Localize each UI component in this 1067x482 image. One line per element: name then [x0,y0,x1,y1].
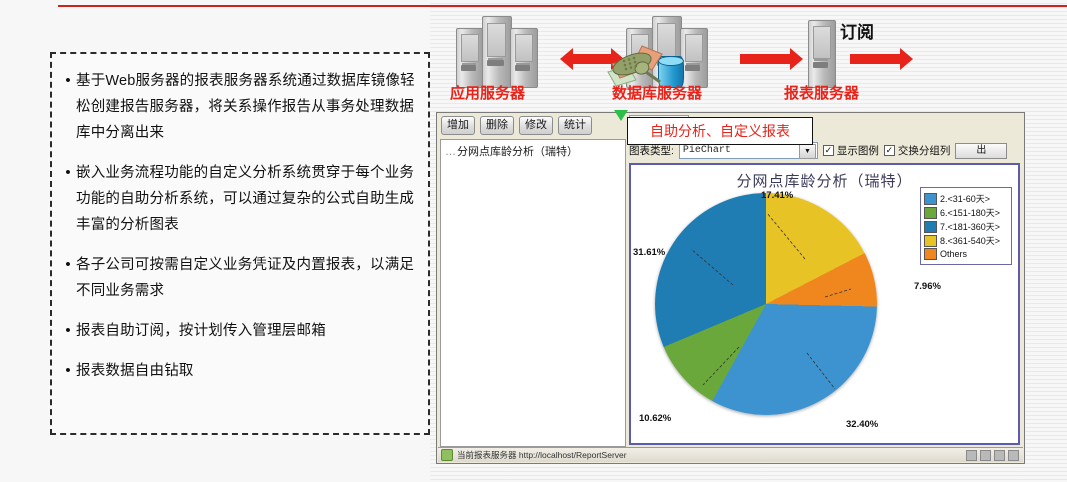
tree-dash-icon: … [445,146,456,158]
server-rack-icon [482,16,512,88]
bullet-marker: • [60,68,76,94]
statistics-button[interactable]: 统计 [558,116,592,135]
legend-label: 6.<151-180天> [940,206,1000,219]
window-toolbar: 增加 删除 修改 统计 [441,116,592,135]
bullet-text: 报表自助订阅，按计划传入管理层邮箱 [76,318,326,344]
show-legend-checkbox[interactable]: ✓ 显示图例 [823,143,879,158]
pie-chart-panel: 分网点库龄分析（瑞特） 17.41% 7.96% 32.40% 10.62% 3… [629,163,1020,445]
chart-config-pane: 图表类型: PieChart ▼ ✓ 显示图例 ✓ 交换分组列 出 分网点库龄分… [629,115,1023,447]
bullet-text: 嵌入业务流程功能的自定义分析系统贯穿于每个业务功能的自助分析系统，可以通过复杂的… [76,160,418,238]
pie-label-10: 10.62% [639,413,671,424]
legend-item: 7.<181-360天> [924,220,1008,233]
pie-label-32: 32.40% [846,419,878,430]
legend-item: Others [924,248,1008,260]
pie-label-7: 7.96% [914,281,941,292]
status-bar: 当前报表服务器 http://localhost/ReportServer [438,447,1023,462]
checkbox-mark[interactable]: ✓ [823,145,834,156]
tray-icon[interactable] [1008,450,1019,461]
bullet-text: 各子公司可按需自定义业务凭证及内置报表，以满足不同业务需求 [76,252,418,304]
report-server-icon [441,449,453,461]
server-rack-icon [456,28,484,88]
tree-item-label: 分网点库龄分析（瑞特） [457,146,578,158]
legend-swatch [924,221,937,233]
pda-mail-icon [602,40,674,92]
report-server-label: 报表服务器 [784,82,859,103]
bullet-marker: • [60,318,76,344]
bullet-item: • 报表数据自由钻取 [60,358,418,384]
legend-swatch [924,235,937,247]
swap-group-label: 交换分组列 [898,143,951,158]
report-server-icon-group [808,20,842,86]
status-text: 当前报表服务器 http://localhost/ReportServer [457,449,627,461]
legend-swatch [924,248,937,260]
tray-icon[interactable] [994,450,1005,461]
bullet-marker: • [60,160,76,186]
delete-button[interactable]: 删除 [480,116,514,135]
checkbox-mark[interactable]: ✓ [884,145,895,156]
legend-swatch [924,193,937,205]
tree-item-report[interactable]: …分网点库龄分析（瑞特） [445,143,621,159]
legend-label: 7.<181-360天> [940,220,1000,233]
tray-icon[interactable] [966,450,977,461]
top-divider-rule [58,5,1067,7]
arrow-db-to-report [740,54,792,64]
chevron-down-icon[interactable]: ▼ [799,144,816,159]
app-server-icon-group [454,16,550,86]
bullet-item: • 各子公司可按需自定义业务凭证及内置报表，以满足不同业务需求 [60,252,418,304]
tray-icon[interactable] [980,450,991,461]
report-tree-panel[interactable]: …分网点库龄分析（瑞特） [440,139,626,447]
report-designer-window: 增加 删除 修改 统计 …分网点库龄分析（瑞特） 图表类型: PieChart … [436,112,1025,464]
pie-label-31: 31.61% [633,247,665,258]
show-legend-label: 显示图例 [837,143,879,158]
bullet-item: • 基于Web服务器的报表服务器系统通过数据库镜像轻松创建报告服务器，将关系操作… [60,68,418,146]
legend-item: 2.<31-60天> [924,192,1008,205]
bullet-text: 报表数据自由钻取 [76,358,194,384]
legend-item: 8.<361-540天> [924,234,1008,247]
chart-type-value: PieChart [680,145,731,156]
legend-swatch [924,207,937,219]
legend-label: 8.<361-540天> [940,234,1000,247]
swap-group-checkbox[interactable]: ✓ 交换分组列 [884,143,951,158]
subscribe-label: 订阅 [840,18,874,43]
server-rack-icon [808,20,836,88]
legend-label: 2.<31-60天> [940,192,990,205]
bullet-marker: • [60,252,76,278]
callout-box: 自助分析、自定义报表 [627,117,813,145]
pie-label-17: 17.41% [761,190,793,201]
arrow-report-to-subscriber [850,54,902,64]
green-pointer-icon [614,110,628,121]
chart-legend: 2.<31-60天> 6.<151-180天> 7.<181-360天> 8.<… [920,187,1012,265]
pie-leader-lines [655,193,877,415]
server-rack-icon [510,28,538,88]
legend-item: 6.<151-180天> [924,206,1008,219]
chart-type-label: 图表类型: [629,143,674,158]
legend-label: Others [940,249,967,259]
bullet-item: • 嵌入业务流程功能的自定义分析系统贯穿于每个业务功能的自助分析系统，可以通过复… [60,160,418,238]
pie-chart [655,193,877,415]
bullet-marker: • [60,358,76,384]
app-server-label: 应用服务器 [450,82,525,103]
architecture-diagram: 应用服务器 数据库服务器 报表服务器 订阅 [432,8,1067,112]
bullet-text: 基于Web服务器的报表服务器系统通过数据库镜像轻松创建报告服务器，将关系操作报告… [76,68,418,146]
export-button[interactable]: 出 [955,143,1007,159]
server-rack-icon [680,28,708,88]
system-tray [966,450,1019,461]
modify-button[interactable]: 修改 [519,116,553,135]
bullet-item: • 报表自助订阅，按计划传入管理层邮箱 [60,318,418,344]
add-button[interactable]: 增加 [441,116,475,135]
feature-bullet-panel: • 基于Web服务器的报表服务器系统通过数据库镜像轻松创建报告服务器，将关系操作… [50,52,430,435]
